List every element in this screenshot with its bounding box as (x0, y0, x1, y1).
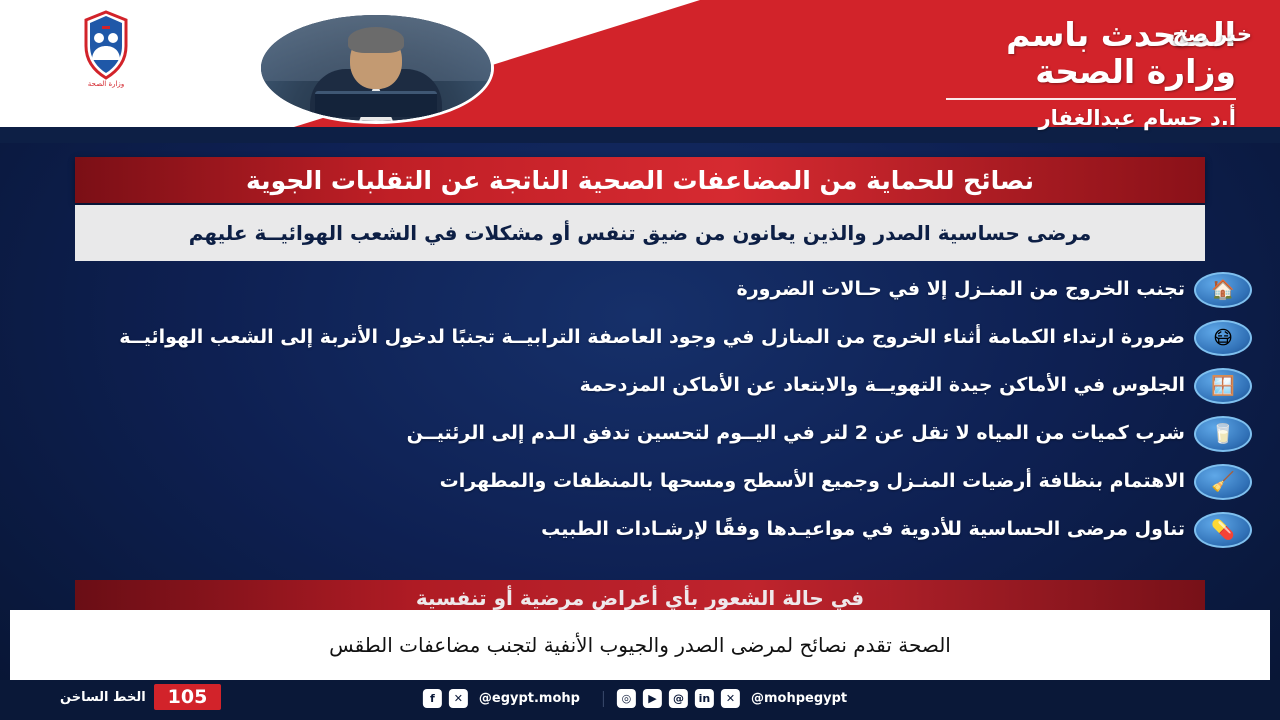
water-glass-glyph: 🥛 (1211, 425, 1235, 444)
tip-text: ضرورة ارتداء الكمامة أثناء الخروج من الم… (110, 325, 1185, 351)
tip-text: الجلوس في الأماكن جيدة التهويــة والابتع… (110, 373, 1185, 399)
facebook-icon[interactable]: f (423, 689, 442, 708)
list-item: شرب كميات من المياه لا تقل عن 2 لتر في ا… (0, 411, 1280, 457)
watermark-text: خبر صح (1172, 22, 1252, 46)
house-icon: 🏠 (1194, 272, 1252, 308)
ministry-of-health-egypt-logo: وزارة الصحة (52, 10, 160, 88)
open-window-glyph: 🪟 (1211, 377, 1235, 396)
subtitle-text: مرضى حساسية الصدر والذين يعانون من ضيق ت… (173, 221, 1108, 246)
tip-text: شرب كميات من المياه لا تقل عن 2 لتر في ا… (110, 421, 1185, 447)
list-item: تناول مرضى الحساسية للأدوية في مواعيـدها… (0, 507, 1280, 553)
social-separator (603, 691, 604, 707)
footer-bar: 105 الخط الساخن f ✕ @egypt.mohp ◎ ▶ @ in… (0, 680, 1280, 720)
list-item: الاهتمام بنظافة أرضيات المنـزل وجميع الأ… (0, 459, 1280, 505)
tips-list: تجنب الخروج من المنـزل إلا في حـالات الض… (0, 267, 1280, 555)
social-handle-1[interactable]: @egypt.mohp (479, 691, 580, 706)
list-item: تجنب الخروج من المنـزل إلا في حـالات الض… (0, 267, 1280, 313)
caption-text: الصحة تقدم نصائح لمرضى الصدر والجيوب الأ… (329, 633, 951, 657)
infographic-page: وزارة الصحة المتحدث باسم وزارة الصحة أ.د… (0, 0, 1280, 720)
list-item: ضرورة ارتداء الكمامة أثناء الخروج من الم… (0, 315, 1280, 361)
spokesperson-name: أ.د حسام عبدالغفار (946, 107, 1236, 129)
header-band: وزارة الصحة المتحدث باسم وزارة الصحة أ.د… (0, 0, 1280, 143)
tip-text: الاهتمام بنظافة أرضيات المنـزل وجميع الأ… (110, 469, 1185, 495)
social-links: f ✕ @egypt.mohp ◎ ▶ @ in ✕ @mohpegypt (423, 689, 857, 708)
list-item: الجلوس في الأماكن جيدة التهويــة والابتع… (0, 363, 1280, 409)
face-mask-icon: 😷 (1194, 320, 1252, 356)
hotline-number: 105 (154, 684, 222, 710)
header-divider (946, 98, 1236, 100)
subtitle-box: مرضى حساسية الصدر والذين يعانون من ضيق ت… (75, 205, 1205, 261)
cleaning-supplies-glyph: 🧹 (1211, 473, 1235, 492)
bottom-notice-line1: في حالة الشعور بأي أعراض مرضية أو تنفسية (75, 586, 1205, 610)
social-handle-2[interactable]: @mohpegypt (751, 691, 847, 706)
youtube-icon[interactable]: ▶ (643, 689, 662, 708)
main-banner-text: نصائح للحماية من المضاعفات الصحية الناتج… (246, 166, 1034, 195)
linkedin-icon[interactable]: in (695, 689, 714, 708)
medicine-icon: 💊 (1194, 512, 1252, 548)
threads-icon[interactable]: @ (669, 689, 688, 708)
x-icon[interactable]: ✕ (721, 689, 740, 708)
tip-text: تناول مرضى الحساسية للأدوية في مواعيـدها… (110, 517, 1185, 543)
open-window-icon: 🪟 (1194, 368, 1252, 404)
house-glyph: 🏠 (1211, 281, 1235, 300)
spokesperson-portrait (258, 12, 494, 124)
instagram-icon[interactable]: ◎ (617, 689, 636, 708)
x-twitter-icon[interactable]: ✕ (449, 689, 468, 708)
svg-text:وزارة الصحة: وزارة الصحة (88, 80, 124, 88)
hotline-block: 105 الخط الساخن (60, 684, 221, 710)
cleaning-supplies-icon: 🧹 (1194, 464, 1252, 500)
hotline-label: الخط الساخن (60, 690, 146, 705)
main-banner: نصائح للحماية من المضاعفات الصحية الناتج… (75, 157, 1205, 203)
water-glass-icon: 🥛 (1194, 416, 1252, 452)
face-mask-glyph: 😷 (1213, 329, 1233, 348)
tip-text: تجنب الخروج من المنـزل إلا في حـالات الض… (110, 277, 1185, 303)
caption-strip: الصحة تقدم نصائح لمرضى الصدر والجيوب الأ… (10, 610, 1270, 680)
header-title-line2: وزارة الصحة (946, 55, 1236, 90)
medicine-glyph: 💊 (1211, 521, 1235, 540)
